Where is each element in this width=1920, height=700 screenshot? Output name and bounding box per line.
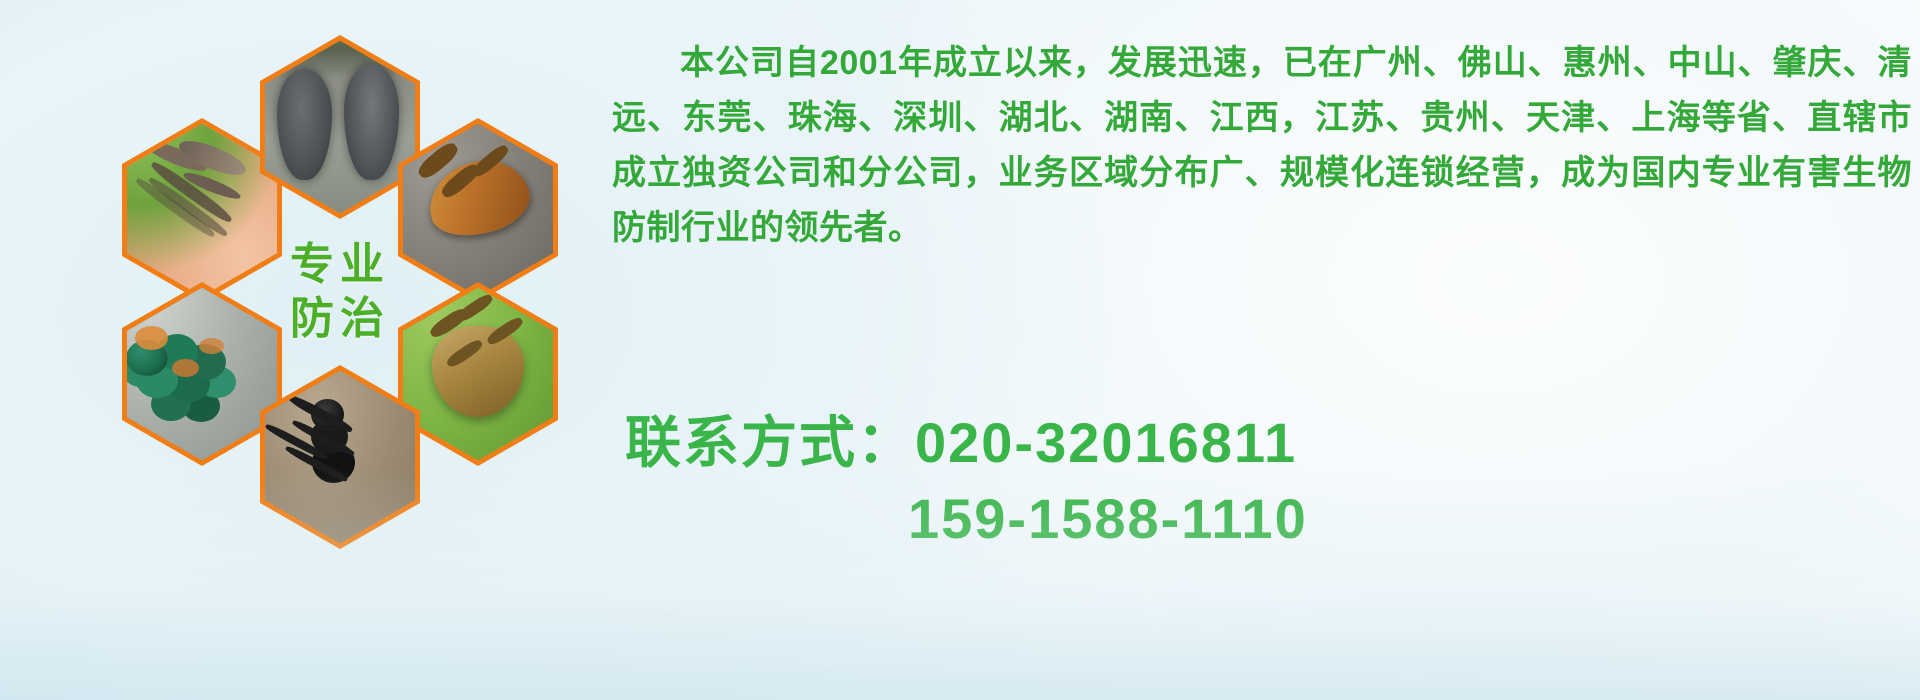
hex-image-frame <box>403 288 553 461</box>
stinkbug-icon <box>403 288 553 461</box>
hex-cell-center-slogan: 专业 防治 <box>260 200 420 384</box>
mosquito-icon <box>127 124 277 297</box>
hex-image-frame <box>265 371 415 544</box>
hex-image-frame <box>403 124 553 297</box>
slogan-text: 专业 防治 <box>260 200 420 384</box>
contact-line-secondary[interactable]: 159-1588-1110 <box>625 481 1825 557</box>
ant-icon <box>265 371 415 544</box>
hexagon-image-cluster: 专业 防治 <box>88 10 588 570</box>
promo-banner: 专业 防治 本公司自2001年成立以来，发展迅速，已在广州、佛山、惠州、中山、肇… <box>0 0 1920 700</box>
flies-icon <box>127 288 277 461</box>
hex-cell-ant[interactable] <box>260 365 420 549</box>
hex-image-frame <box>127 288 277 461</box>
slogan-line-2: 防治 <box>290 297 390 341</box>
hex-cell-stinkbug[interactable] <box>398 282 558 466</box>
rats-icon <box>265 41 415 214</box>
contact-block: 联系方式：020-32016811 159-1588-1110 <box>625 405 1825 557</box>
hex-cell-mosquito[interactable] <box>122 118 282 302</box>
slogan-line-1: 专业 <box>290 243 390 287</box>
hex-cell-flies[interactable] <box>122 282 282 466</box>
company-description: 本公司自2001年成立以来，发展迅速，已在广州、佛山、惠州、中山、肇庆、清远、东… <box>612 36 1912 256</box>
hex-image-frame <box>127 124 277 297</box>
description-paragraph: 本公司自2001年成立以来，发展迅速，已在广州、佛山、惠州、中山、肇庆、清远、东… <box>612 36 1912 256</box>
cockroach-icon <box>403 124 553 297</box>
contact-line-primary[interactable]: 联系方式：020-32016811 <box>625 405 1825 481</box>
hex-cell-rats[interactable] <box>260 35 420 219</box>
hex-cell-cockroach[interactable] <box>398 118 558 302</box>
hex-image-frame <box>265 41 415 214</box>
